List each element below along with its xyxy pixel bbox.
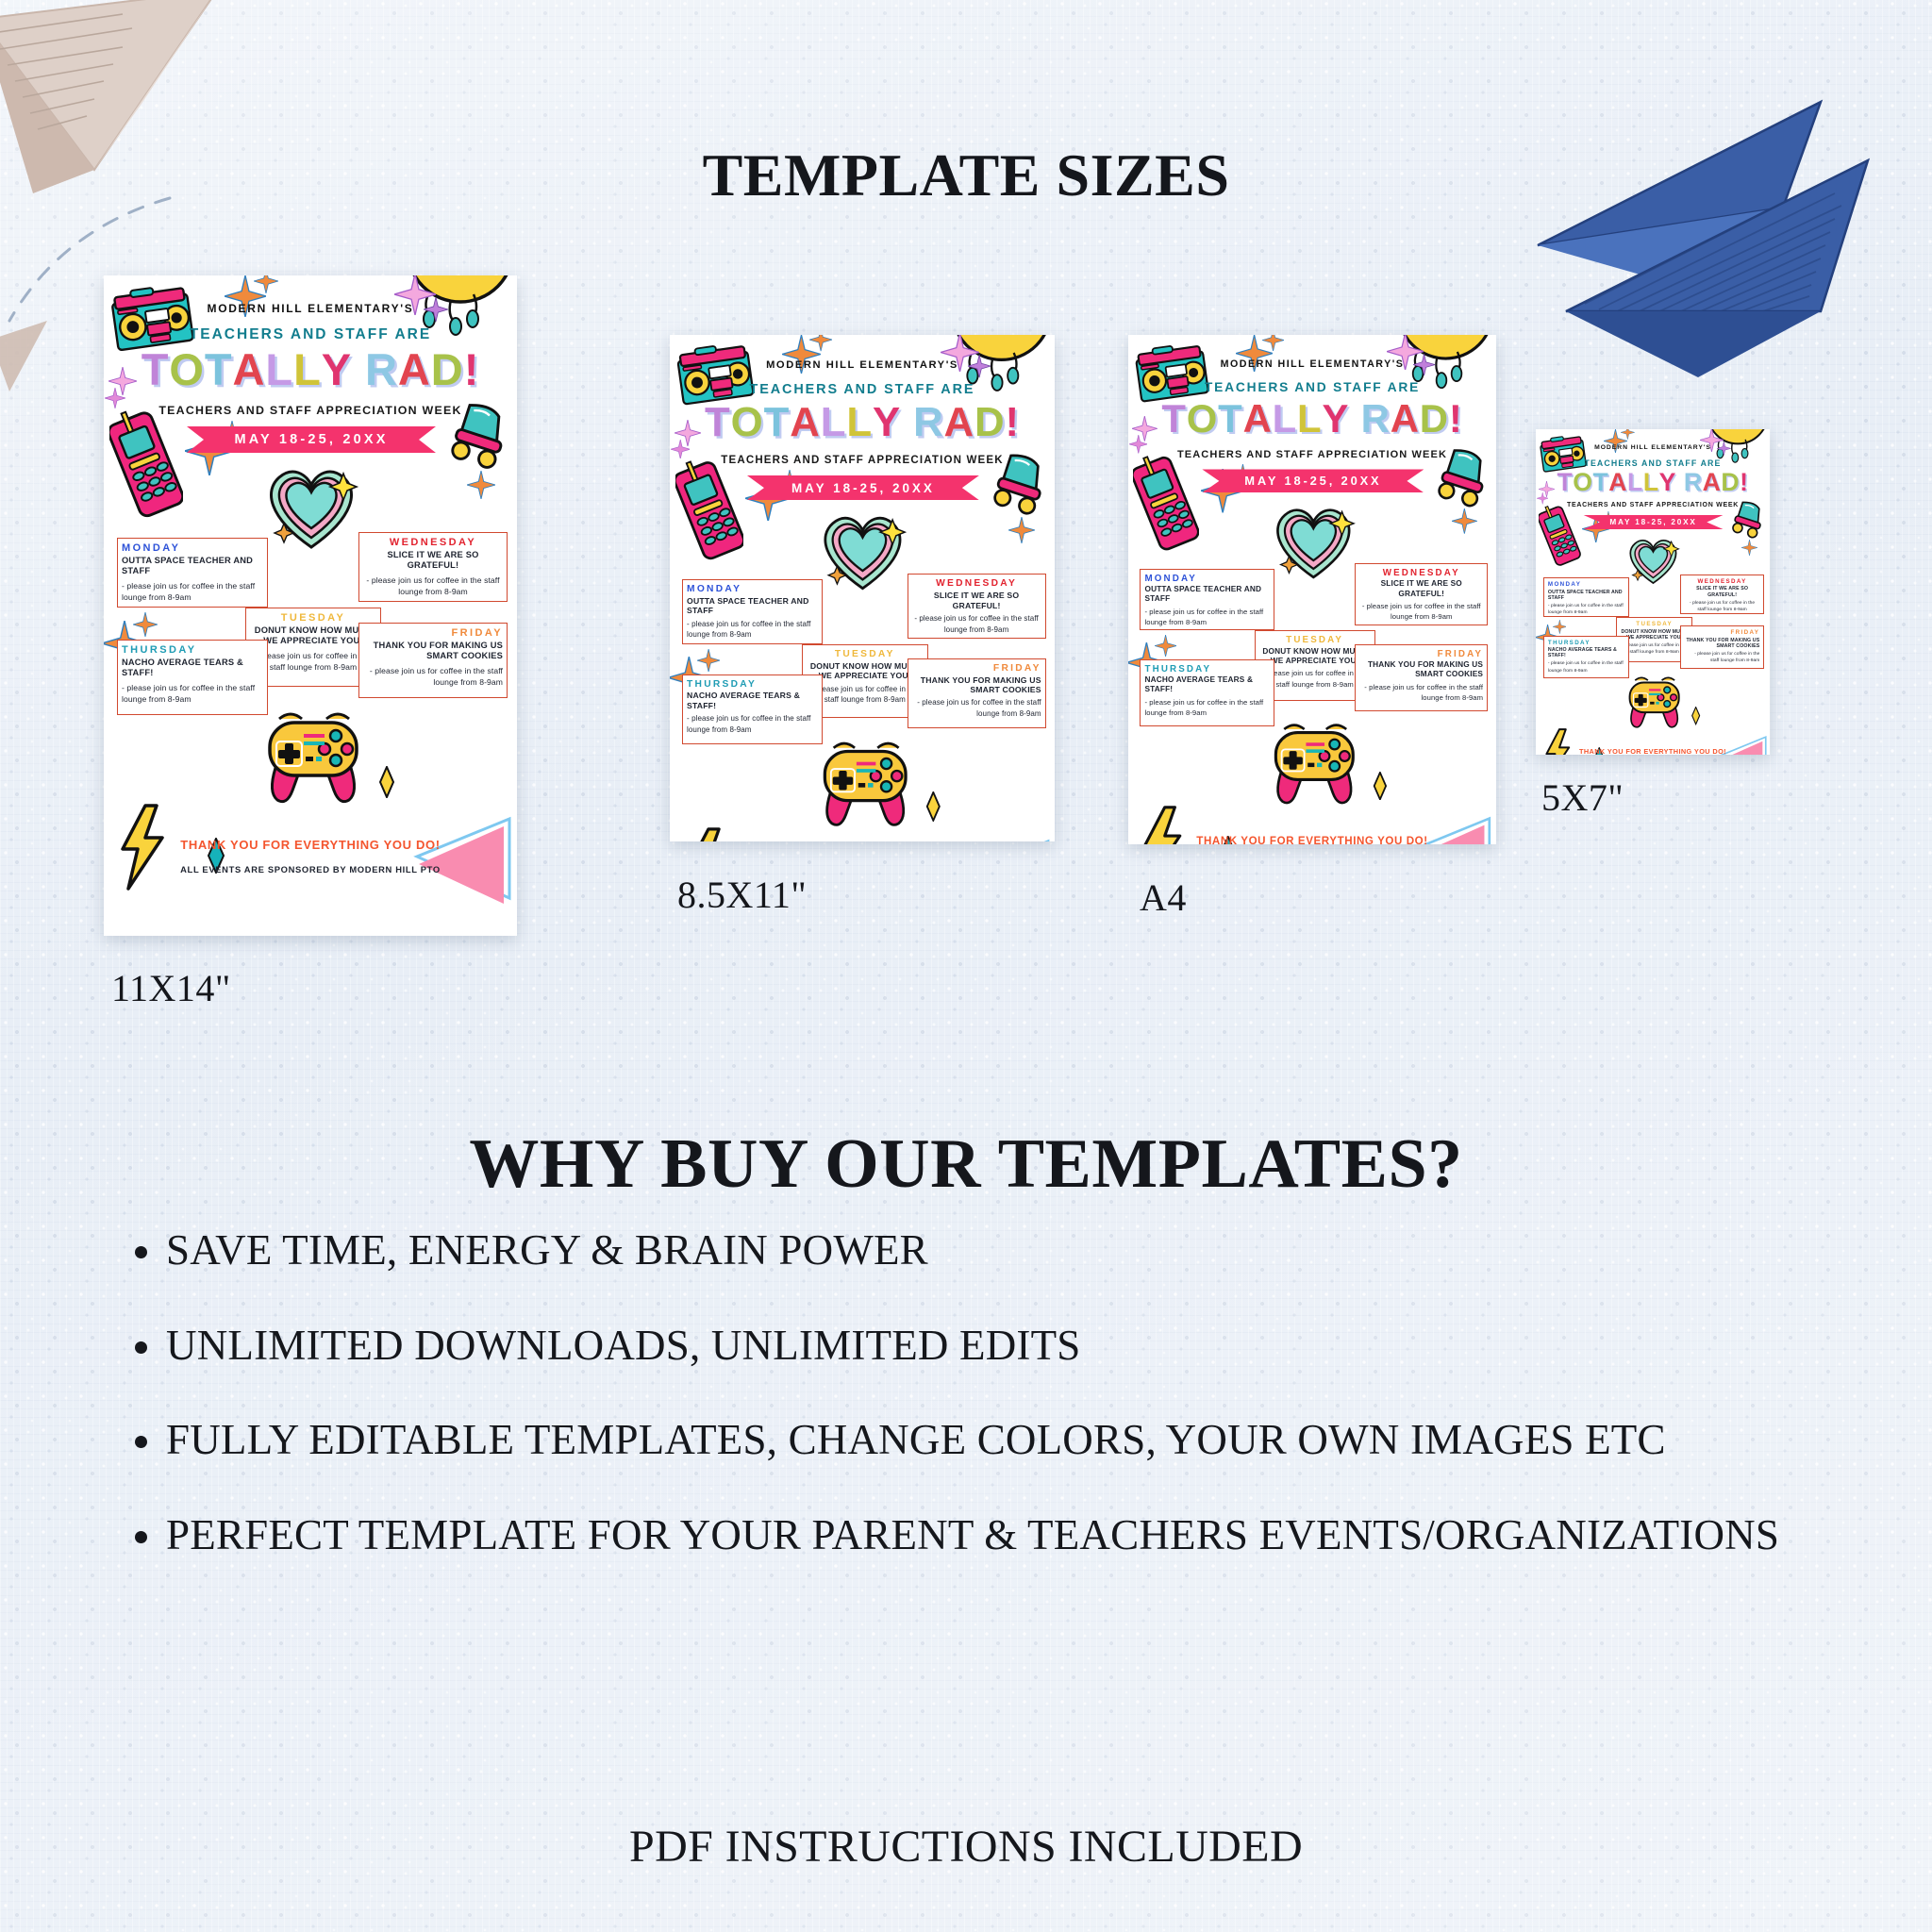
day-note: - please join us for coffee in the staff… (1359, 601, 1483, 622)
headline-letter: ! (1740, 470, 1748, 495)
day-note: - please join us for coffee in the staff… (1621, 642, 1689, 656)
flyer-subtitle: TEACHERS AND STAFF ARE (1128, 380, 1496, 394)
retro-phone-icon (1539, 504, 1580, 567)
triangle-decor-icon (413, 815, 513, 906)
flyer-headline: TOTALLY RAD! (1128, 399, 1496, 440)
flyer-school-name: MODERN HILL ELEMENTARY'S (1536, 444, 1770, 451)
day-box-monday[interactable]: MONDAY OUTTA SPACE TEACHER AND STAFF - p… (1543, 577, 1629, 617)
day-note: - please join us for coffee in the staff… (363, 665, 503, 689)
day-name: MONDAY (687, 583, 818, 596)
flyer-school-name: MODERN HILL ELEMENTARY'S (1128, 358, 1496, 370)
game-controller-icon (1617, 671, 1691, 729)
day-title: SLICE IT WE ARE SO GRATEFUL! (363, 550, 503, 572)
headline-letter: O (731, 402, 764, 444)
headline-letter: L (1273, 399, 1297, 440)
headline-letter: L (265, 347, 293, 392)
day-note: - please join us for coffee in the staff… (250, 650, 376, 674)
flyer-preview-11x14[interactable]: MODERN HILL ELEMENTARY'S TEACHERS AND ST… (104, 275, 517, 936)
day-note: - please join us for coffee in the staff… (1548, 603, 1624, 616)
headline-letter: L (1297, 399, 1322, 440)
day-box-friday[interactable]: FRIDAY THANK YOU FOR MAKING US SMART COO… (1680, 625, 1764, 668)
game-controller-icon (1256, 714, 1374, 807)
headline-letter: R (365, 347, 398, 392)
headline-letter: Y (322, 347, 352, 392)
headline-letter: L (846, 402, 873, 444)
day-note: - please join us for coffee in the staff… (1685, 600, 1759, 613)
day-name: FRIDAY (1359, 648, 1483, 660)
day-title: THANK YOU FOR MAKING US SMART COOKIES (1685, 638, 1759, 650)
list-item: FULLY EDITABLE TEMPLATES, CHANGE COLORS,… (166, 1412, 1821, 1468)
day-box-friday[interactable]: FRIDAY THANK YOU FOR MAKING US SMART COO… (1355, 644, 1488, 711)
headline-letter: T (705, 402, 731, 444)
page-title-why-buy: WHY BUY OUR TEMPLATES? (0, 1124, 1932, 1205)
flyer-headline: TOTALLY RAD! (670, 402, 1055, 444)
day-title: SLICE IT WE ARE SO GRATEFUL! (912, 591, 1041, 610)
flyer-school-name: MODERN HILL ELEMENTARY'S (104, 302, 517, 315)
headline-letter: A (1703, 470, 1722, 495)
sparkle-star-icon (254, 275, 278, 293)
flyer-content: MODERN HILL ELEMENTARY'S TEACHERS AND ST… (104, 275, 517, 936)
day-name: TUESDAY (1621, 621, 1689, 628)
day-note: - please join us for coffee in the staff… (1548, 660, 1624, 674)
day-box-wednesday[interactable]: WEDNESDAY SLICE IT WE ARE SO GRATEFUL! -… (1680, 575, 1764, 614)
sparkle-star-icon (1553, 620, 1567, 634)
day-note: - please join us for coffee in the staff… (1359, 682, 1483, 703)
headline-letter: R (1684, 470, 1703, 495)
day-title: DONUT KNOW HOW MUCH WE APPRECIATE YOU! (807, 661, 924, 681)
day-title: THANK YOU FOR MAKING US SMART COOKIES (1359, 660, 1483, 679)
day-name: MONDAY (122, 541, 263, 556)
flyer-date-ribbon: MAY 18-25, 20XX (1583, 515, 1724, 530)
flyer-subtitle: TEACHERS AND STAFF ARE (670, 382, 1055, 397)
headline-letter: O (1573, 470, 1592, 495)
headline-letter: L (821, 402, 847, 444)
day-note: - please join us for coffee in the staff… (363, 575, 503, 598)
day-title: DONUT KNOW HOW MUCH WE APPRECIATE YOU! (1621, 629, 1689, 641)
flyer-week-line: TEACHERS AND STAFF APPRECIATION WEEK (670, 455, 1055, 466)
day-title: OUTTA SPACE TEACHER AND STAFF (687, 596, 818, 616)
day-name: FRIDAY (363, 626, 503, 641)
flyer-date-ribbon: MAY 18-25, 20XX (187, 426, 436, 453)
page-title-template-sizes: TEMPLATE SIZES (0, 141, 1932, 210)
flyer-week-line: TEACHERS AND STAFF APPRECIATION WEEK (1536, 502, 1770, 508)
heart-icon (817, 508, 908, 591)
day-note: - please join us for coffee in the staff… (122, 682, 263, 706)
diamond-icon (1690, 707, 1701, 724)
pdf-instructions-note: PDF INSTRUCTIONS INCLUDED (0, 1821, 1932, 1873)
headline-letter (1349, 399, 1360, 440)
flyer-headline: TOTALLY RAD! (1536, 470, 1770, 495)
flyer-headline: TOTALLY RAD! (104, 347, 517, 392)
headline-letter: D (974, 402, 1005, 444)
flyer-school-name: MODERN HILL ELEMENTARY'S (670, 359, 1055, 371)
headline-letter: R (913, 402, 943, 444)
sparkle-star-icon (467, 471, 495, 499)
heart-icon (1270, 500, 1357, 580)
flyer-week-line: TEACHERS AND STAFF APPRECIATION WEEK (104, 404, 517, 417)
day-name: THURSDAY (1548, 640, 1624, 647)
day-box-wednesday[interactable]: WEDNESDAY SLICE IT WE ARE SO GRATEFUL! -… (908, 574, 1046, 639)
sparkle-star-icon (809, 335, 832, 352)
headline-letter: T (1161, 399, 1186, 440)
flyer-thanks-line: THANK YOU FOR EVERYTHING YOU DO! (104, 838, 517, 852)
sparkle-star-icon (697, 649, 720, 672)
headline-letter: A (233, 347, 266, 392)
headline-letter (901, 402, 913, 444)
headline-letter: O (169, 347, 205, 392)
list-item: PERFECT TEMPLATE FOR YOUR PARENT & TEACH… (166, 1507, 1821, 1563)
diamond-icon (377, 766, 396, 798)
sparkle-star-icon (1741, 540, 1757, 556)
headline-letter: T (142, 347, 170, 392)
flyer-preview-5x7[interactable]: MODERN HILL ELEMENTARY'S TEACHERS AND ST… (1536, 429, 1770, 755)
headline-letter: A (1243, 399, 1273, 440)
headline-letter: Y (873, 402, 901, 444)
day-box-wednesday[interactable]: WEDNESDAY SLICE IT WE ARE SO GRATEFUL! -… (1355, 563, 1488, 625)
flyer-content: MODERN HILL ELEMENTARY'S TEACHERS AND ST… (1536, 429, 1770, 755)
day-name: TUESDAY (807, 648, 924, 661)
headline-letter: L (1627, 470, 1643, 495)
day-title: SLICE IT WE ARE SO GRATEFUL! (1685, 586, 1759, 598)
headline-letter: T (205, 347, 233, 392)
sparkle-star-icon (133, 612, 158, 637)
day-note: - please join us for coffee in the staff… (1144, 607, 1269, 627)
sparkle-star-icon (1262, 335, 1284, 351)
headline-letter: A (1608, 470, 1627, 495)
headline-letter: O (1187, 399, 1218, 440)
headline-letter: D (1721, 470, 1740, 495)
day-title: THANK YOU FOR MAKING US SMART COOKIES (912, 675, 1041, 695)
headline-letter: R (1361, 399, 1391, 440)
day-name: MONDAY (1144, 573, 1269, 585)
day-box-thursday[interactable]: THURSDAY NACHO AVERAGE TEARS & STAFF! - … (682, 675, 823, 745)
day-name: FRIDAY (1685, 629, 1759, 637)
size-label-85x11: 8.5X11" (677, 873, 807, 917)
headline-letter: T (1557, 470, 1573, 495)
headline-letter: A (398, 347, 431, 392)
headline-letter: ! (464, 347, 480, 392)
diamond-icon (1372, 772, 1389, 800)
flyer-subtitle: TEACHERS AND STAFF ARE (1536, 458, 1770, 468)
day-title: OUTTA SPACE TEACHER AND STAFF (122, 556, 263, 577)
lightning-bolt-icon (682, 827, 731, 841)
headline-letter: T (1593, 470, 1609, 495)
game-controller-icon (247, 702, 379, 806)
day-name: FRIDAY (912, 662, 1041, 675)
day-name: THURSDAY (687, 678, 818, 691)
day-note: - please join us for coffee in the staff… (912, 613, 1041, 635)
flyer-date-ribbon: MAY 18-25, 20XX (747, 475, 979, 500)
day-note: - please join us for coffee in the staff… (687, 619, 818, 641)
retro-phone-icon (109, 408, 183, 519)
headline-letter: T (1218, 399, 1242, 440)
day-name: TUESDAY (1259, 634, 1371, 646)
heart-icon (1625, 534, 1681, 585)
flyer-date-ribbon: MAY 18-25, 20XX (1202, 469, 1424, 492)
headline-letter: L (1643, 470, 1659, 495)
headline-letter (1676, 470, 1684, 495)
day-title: NACHO AVERAGE TEARS & STAFF! (1548, 647, 1624, 659)
headline-letter: Y (1322, 399, 1349, 440)
sparkle-star-icon (1155, 635, 1176, 657)
day-note: - please join us for coffee in the staff… (687, 713, 818, 735)
day-title: NACHO AVERAGE TEARS & STAFF! (687, 691, 818, 710)
day-note: - please join us for coffee in the staff… (1685, 651, 1759, 664)
day-box-wednesday[interactable]: WEDNESDAY SLICE IT WE ARE SO GRATEFUL! -… (358, 532, 508, 602)
day-name: WEDNESDAY (1685, 578, 1759, 586)
headline-letter: A (944, 402, 974, 444)
day-name: WEDNESDAY (1359, 567, 1483, 579)
day-box-monday[interactable]: MONDAY OUTTA SPACE TEACHER AND STAFF - p… (682, 579, 823, 644)
headline-letter: L (293, 347, 322, 392)
headline-letter: ! (1006, 402, 1020, 444)
flyer-sponsor-line: ALL EVENTS ARE SPONSORED BY MODERN HILL … (104, 864, 517, 874)
sparkle-star-icon (1452, 508, 1477, 534)
diamond-icon (924, 791, 942, 822)
day-box-thursday[interactable]: THURSDAY NACHO AVERAGE TEARS & STAFF! - … (117, 640, 268, 715)
day-box-thursday[interactable]: THURSDAY NACHO AVERAGE TEARS & STAFF! - … (1543, 636, 1629, 678)
headline-letter: T (764, 402, 791, 444)
headline-letter: ! (1449, 399, 1463, 440)
triangle-decor-icon (958, 838, 1052, 841)
day-note: - please join us for coffee in the staff… (1259, 668, 1371, 689)
flyer-week-line: TEACHERS AND STAFF APPRECIATION WEEK (1128, 449, 1496, 460)
day-box-thursday[interactable]: THURSDAY NACHO AVERAGE TEARS & STAFF! - … (1140, 659, 1274, 726)
day-box-friday[interactable]: FRIDAY THANK YOU FOR MAKING US SMART COO… (358, 623, 508, 698)
day-box-monday[interactable]: MONDAY OUTTA SPACE TEACHER AND STAFF - p… (1140, 569, 1274, 631)
day-title: NACHO AVERAGE TEARS & STAFF! (122, 658, 263, 679)
day-title: OUTTA SPACE TEACHER AND STAFF (1144, 585, 1269, 604)
size-label-11x14: 11X14" (111, 966, 231, 1010)
benefits-list: SAVE TIME, ENERGY & BRAIN POWER UNLIMITE… (123, 1223, 1821, 1602)
heart-icon (262, 460, 360, 551)
day-name: TUESDAY (250, 611, 376, 625)
flyer-content: MODERN HILL ELEMENTARY'S TEACHERS AND ST… (1128, 335, 1496, 844)
flyer-thanks-line: THANK YOU FOR EVERYTHING YOU DO! (1128, 836, 1496, 844)
day-name: WEDNESDAY (363, 536, 503, 550)
flyer-thanks-line: THANK YOU FOR EVERYTHING YOU DO! (1536, 747, 1770, 755)
day-title: DONUT KNOW HOW MUCH WE APPRECIATE YOU! (1259, 647, 1371, 666)
day-box-monday[interactable]: MONDAY OUTTA SPACE TEACHER AND STAFF - p… (117, 538, 268, 608)
sparkle-star-icon (1621, 429, 1635, 440)
size-label-5x7: 5X7" (1541, 775, 1624, 820)
day-note: - please join us for coffee in the staff… (912, 697, 1041, 719)
game-controller-icon (804, 732, 926, 828)
headline-letter: A (790, 402, 820, 444)
day-box-friday[interactable]: FRIDAY THANK YOU FOR MAKING US SMART COO… (908, 658, 1046, 729)
headline-letter: D (1420, 399, 1449, 440)
day-name: THURSDAY (1144, 663, 1269, 675)
headline-letter: A (1391, 399, 1420, 440)
list-item: UNLIMITED DOWNLOADS, UNLIMITED EDITS (166, 1318, 1821, 1374)
headline-letter: D (431, 347, 464, 392)
day-title: DONUT KNOW HOW MUCH WE APPRECIATE YOU! (250, 625, 376, 647)
retro-phone-icon (1133, 453, 1198, 552)
day-title: NACHO AVERAGE TEARS & STAFF! (1144, 675, 1269, 694)
headline-letter (352, 347, 365, 392)
list-item: SAVE TIME, ENERGY & BRAIN POWER (166, 1223, 1821, 1278)
flyer-content: MODERN HILL ELEMENTARY'S TEACHERS AND ST… (670, 335, 1055, 841)
day-name: WEDNESDAY (912, 577, 1041, 591)
day-name: MONDAY (1548, 581, 1624, 589)
flyer-preview-85x11[interactable]: MODERN HILL ELEMENTARY'S TEACHERS AND ST… (670, 335, 1055, 841)
headline-letter: Y (1659, 470, 1676, 495)
sparkle-star-icon (1008, 517, 1035, 543)
day-note: - please join us for coffee in the staff… (122, 580, 263, 604)
day-title: SLICE IT WE ARE SO GRATEFUL! (1359, 579, 1483, 598)
day-note: - please join us for coffee in the staff… (807, 684, 924, 706)
day-note: - please join us for coffee in the staff… (1144, 697, 1269, 718)
retro-phone-icon (675, 458, 744, 561)
flyer-preview-a4[interactable]: MODERN HILL ELEMENTARY'S TEACHERS AND ST… (1128, 335, 1496, 844)
size-label-a4: A4 (1140, 875, 1187, 920)
day-title: OUTTA SPACE TEACHER AND STAFF (1548, 590, 1624, 602)
day-name: THURSDAY (122, 643, 263, 658)
flyer-subtitle: TEACHERS AND STAFF ARE (104, 326, 517, 343)
day-title: THANK YOU FOR MAKING US SMART COOKIES (363, 641, 503, 662)
